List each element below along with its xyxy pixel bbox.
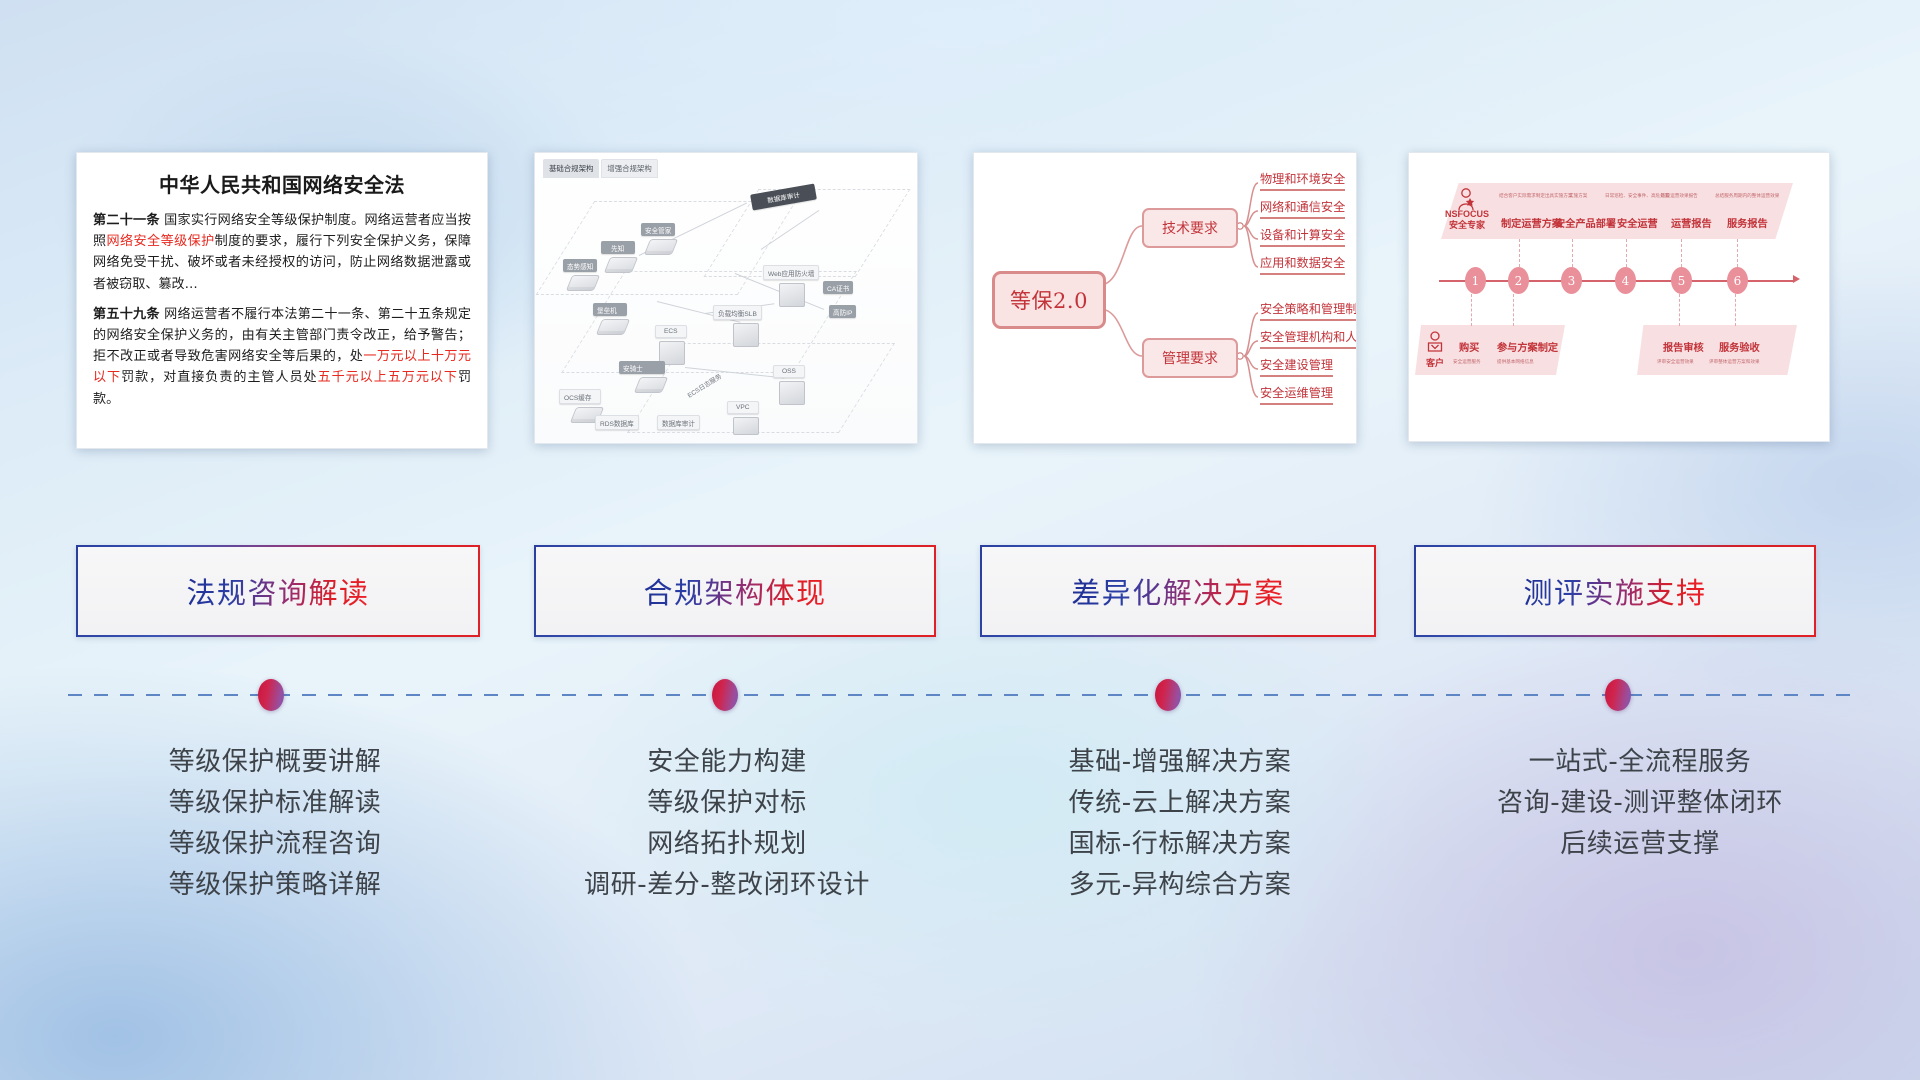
architecture-tab-group: 基础合规架构 增强合规架构: [543, 159, 658, 178]
step-connector: [1471, 294, 1473, 326]
node-situational-awareness: 态势感知: [563, 259, 597, 291]
mindmap-branch-technical: 技术要求: [1142, 208, 1238, 248]
node-db-audit: 数据库审计: [657, 415, 700, 430]
node-label: CA证书: [823, 281, 853, 294]
node-label: 先知: [601, 241, 635, 254]
node-bastion-host: 堡垒机: [593, 303, 627, 335]
preview-card-row: 中华人民共和国网络安全法 第二十一条 国家实行网络安全等级保护制度。网络运营者应…: [0, 152, 1920, 452]
node-xianzhi: 先知: [601, 241, 635, 273]
step-connector: [1572, 239, 1574, 267]
tab-enhanced-architecture[interactable]: 增强合规架构: [601, 159, 657, 178]
timeline-step-sub: 阶段运营效果报告: [1661, 193, 1698, 199]
customer-step-sub: 评审整体运营方案和效果: [1709, 359, 1760, 365]
detail-item: 等级保护策略详解: [60, 865, 490, 906]
timeline-step-title: 服务报告: [1727, 215, 1768, 230]
expert-person-icon: [1455, 187, 1477, 211]
section-title-box-3[interactable]: 差异化解决方案: [980, 545, 1376, 637]
section-title-text: 法规咨询解读: [186, 570, 369, 612]
node-label: Web应用防火墙: [763, 265, 819, 280]
dengbao-mindmap-card: 等保2.0 技术要求 管理要求 物理和环境安全 网络和通信安全 设备和计算安全 …: [973, 152, 1357, 444]
detail-item: 等级保护概要讲解: [60, 742, 490, 783]
expert-role-line1: NSFOCUS: [1445, 209, 1489, 219]
node-label: VPC: [727, 401, 759, 414]
section-title-text: 合规架构体现: [643, 570, 826, 612]
mindmap-leaf: 网络和通信安全: [1260, 197, 1345, 219]
customer-band-right: [1637, 325, 1797, 375]
mindmap-root-node: 等保2.0: [992, 271, 1106, 329]
mindmap-leaf: 设备和计算安全: [1260, 225, 1345, 247]
timeline-step-number: 2: [1508, 267, 1529, 294]
timeline-step-title: 安全运营: [1617, 215, 1658, 230]
section-title-box-1[interactable]: 法规咨询解读: [76, 545, 480, 637]
timeline-marker-dot-2: [712, 679, 738, 711]
detail-item: 基础-增强解决方案: [960, 742, 1400, 783]
mindmap-leaf: 安全运维管理: [1260, 383, 1333, 405]
node-label: 安全管家: [641, 223, 675, 236]
step-connector: [1735, 294, 1737, 326]
customer-step-sub: 评审安全运营效果: [1657, 359, 1694, 365]
timeline-step-sub: 结合客户实际需求制定出具实施方案: [1499, 193, 1573, 199]
timeline-step-number: 3: [1561, 267, 1582, 294]
node-label: ECS: [655, 325, 687, 338]
timeline-step-sub: 总结服务周期内的整体运营效果: [1715, 193, 1779, 199]
section-detail-column-3: 基础-增强解决方案 传统-云上解决方案 国标-行标解决方案 多元-异构综合方案: [960, 742, 1400, 906]
node-label: 数据库审计: [657, 415, 700, 430]
mindmap-leaf: 安全管理机构和人员: [1260, 327, 1357, 349]
node-security-steward: 安全管家: [641, 223, 675, 255]
timeline-step-title: 制定运营方案: [1501, 215, 1562, 230]
timeline-step-title: 运营报告: [1671, 215, 1712, 230]
timeline-step-number: 4: [1615, 267, 1636, 294]
mindmap-leaf: 应用和数据安全: [1260, 253, 1345, 275]
law-article-21-label: 第二十一条: [93, 213, 160, 228]
detail-item: 安全能力构建: [512, 742, 942, 783]
section-detail-column-4: 一站式-全流程服务 咨询-建设-测评整体闭环 后续运营支撑: [1420, 742, 1860, 865]
law-article-59-fine-person: 五千元以上五万元以下: [318, 370, 458, 385]
node-vpc: VPC: [727, 401, 759, 435]
detail-item: 多元-异构综合方案: [960, 865, 1400, 906]
mindmap-leaf: 安全建设管理: [1260, 355, 1333, 377]
step-connector: [1513, 294, 1515, 326]
node-ca-certificate: CA证书: [823, 281, 853, 294]
node-oss: OSS: [773, 365, 805, 405]
section-title-box-2[interactable]: 合规架构体现: [534, 545, 936, 637]
law-text-card: 中华人民共和国网络安全法 第二十一条 国家实行网络安全等级保护制度。网络运营者应…: [76, 152, 488, 449]
step-connector: [1519, 239, 1521, 267]
node-label: OCS缓存: [559, 389, 601, 404]
node-anti-ddos-ip: 高防IP: [829, 305, 856, 318]
timeline-arrow-icon: [1793, 275, 1800, 283]
customer-step-sub: 安全运营服务: [1453, 359, 1481, 365]
customer-step-title: 服务验收: [1719, 339, 1760, 354]
law-article-21: 第二十一条 国家实行网络安全等级保护制度。网络运营者应当按照网络安全等级保护制度…: [93, 210, 471, 295]
law-card-title: 中华人民共和国网络安全法: [93, 169, 471, 198]
section-title-text: 差异化解决方案: [1071, 570, 1285, 612]
timeline-step-title: 安全产品部署: [1555, 215, 1616, 230]
node-label: 安骑士: [619, 361, 665, 374]
customer-person-icon: [1425, 331, 1445, 357]
node-ecs: ECS: [655, 325, 687, 365]
law-article-59-label: 第五十九条: [93, 307, 160, 322]
detail-item: 等级保护标准解读: [60, 783, 490, 824]
detail-item: 网络拓扑规划: [512, 824, 942, 865]
mindmap-leaf: 安全策略和管理制度: [1260, 299, 1357, 321]
node-anqishi: 安骑士: [619, 361, 665, 393]
detail-item: 等级保护流程咨询: [60, 824, 490, 865]
timeline-step-sub: 日常巡检、安全事件、高危处置: [1605, 193, 1669, 199]
customer-role-label: 客户: [1421, 358, 1449, 369]
law-article-59-text-b: 罚款，对直接负责的主管人员处: [121, 370, 318, 385]
customer-step-sub: 提供基本网络信息: [1497, 359, 1534, 365]
service-process-card: NSFOCUS 安全专家 客户 1 2 3 4 5 6: [1408, 152, 1830, 442]
node-label: OSS: [773, 365, 805, 378]
section-title-row: 法规咨询解读 合规架构体现 差异化解决方案 测评实施支持: [0, 545, 1920, 640]
node-rds-database: RDS数据库: [595, 415, 639, 430]
law-article-59: 第五十九条 网络运营者不履行本法第二十一条、第二十五条规定的网络安全保护义务的，…: [93, 304, 471, 410]
node-label: 高防IP: [829, 305, 856, 318]
mindmap-leaf: 物理和环境安全: [1260, 169, 1345, 191]
node-waf: Web应用防火墙: [763, 265, 819, 307]
timeline-marker-dot-3: [1155, 679, 1181, 711]
expert-role-label: NSFOCUS 安全专家: [1439, 209, 1495, 232]
node-label: 态势感知: [563, 259, 597, 272]
detail-item: 后续运营支撑: [1420, 824, 1860, 865]
timeline-dashed-rail: [68, 694, 1852, 696]
node-slb: 负载均衡SLB: [713, 305, 762, 347]
detail-item: 等级保护对标: [512, 783, 942, 824]
step-connector: [1626, 239, 1628, 267]
expert-role-line2: 安全专家: [1449, 220, 1485, 230]
timeline-step-number: 6: [1727, 267, 1748, 294]
tab-basic-architecture[interactable]: 基础合规架构: [543, 159, 599, 178]
timeline-step-number: 1: [1465, 267, 1486, 294]
step-connector: [1681, 239, 1683, 267]
customer-step-title: 参与方案制定: [1497, 339, 1558, 354]
detail-item: 咨询-建设-测评整体闭环: [1420, 783, 1860, 824]
mindmap-branch-management: 管理要求: [1142, 338, 1238, 378]
detail-item: 一站式-全流程服务: [1420, 742, 1860, 783]
customer-step-title: 购买: [1459, 339, 1479, 354]
step-connector: [1737, 239, 1739, 267]
detail-item: 传统-云上解决方案: [960, 783, 1400, 824]
timeline-marker-dot-1: [258, 679, 284, 711]
law-article-21-highlight: 网络安全等级保护: [107, 234, 215, 249]
detail-item: 国标-行标解决方案: [960, 824, 1400, 865]
architecture-diagram-card: 基础合规架构 增强合规架构 数据库审计: [534, 152, 918, 444]
step-connector: [1679, 294, 1681, 326]
timeline-step-sub: 实施方案: [1569, 193, 1587, 199]
detail-item: 调研-差分-整改闭环设计: [512, 865, 942, 906]
node-label: RDS数据库: [595, 415, 639, 430]
node-label: 堡垒机: [593, 303, 627, 316]
section-detail-column-2: 安全能力构建 等级保护对标 网络拓扑规划 调研-差分-整改闭环设计: [512, 742, 942, 906]
section-title-box-4[interactable]: 测评实施支持: [1414, 545, 1816, 637]
timeline-marker-dot-4: [1605, 679, 1631, 711]
section-title-text: 测评实施支持: [1523, 570, 1706, 612]
node-label: 负载均衡SLB: [713, 305, 762, 320]
customer-step-title: 报告审核: [1663, 339, 1704, 354]
timeline-step-number: 5: [1671, 267, 1692, 294]
section-detail-column-1: 等级保护概要讲解 等级保护标准解读 等级保护流程咨询 等级保护策略详解: [60, 742, 490, 906]
